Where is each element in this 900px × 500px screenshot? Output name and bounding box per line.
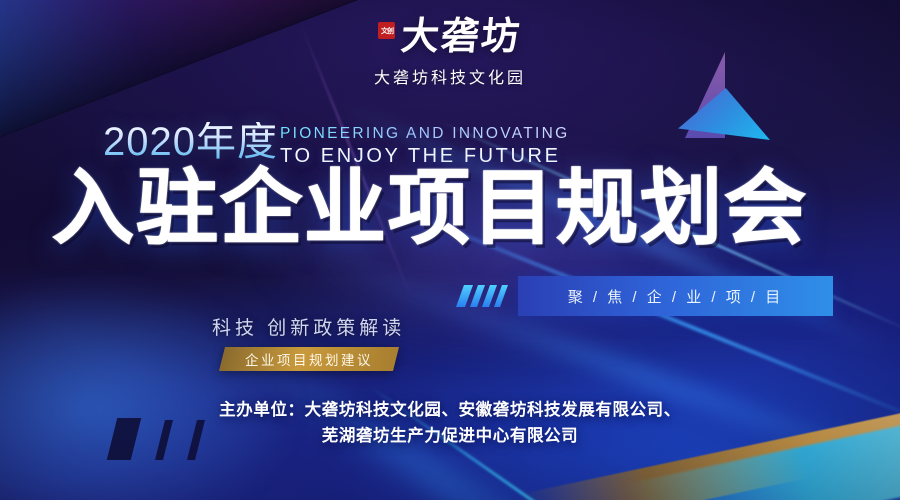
brand-block: 文创 大砻坊 大砻坊科技文化园	[0, 18, 900, 88]
tagline-block: 科技 创新政策解读 企业项目规划建议	[212, 313, 405, 371]
brand-subtitle: 大砻坊科技文化园	[0, 64, 900, 88]
page-title: 入驻企业项目规划会	[52, 168, 808, 250]
banner-content: 文创 大砻坊 大砻坊科技文化园 2020年度 PIONEERING AND IN…	[0, 0, 900, 500]
host-line-1: 主办单位：大砻坊科技文化园、安徽砻坊科技发展有限公司、	[0, 398, 900, 424]
year-label: 2020年度	[103, 122, 278, 162]
tagline-badge-label: 企业项目规划建议	[245, 349, 373, 369]
event-banner: 文创 大砻坊 大砻坊科技文化园 2020年度 PIONEERING AND IN…	[0, 0, 900, 500]
english-line-1: PIONEERING AND INNOVATING	[280, 125, 569, 143]
host-organizations: 主办单位：大砻坊科技文化园、安徽砻坊科技发展有限公司、 芜湖砻坊生产力促进中心有…	[0, 398, 900, 449]
tagline-line-1: 科技 创新政策解读	[212, 313, 405, 340]
focus-bar: 聚 / 焦 / 企 / 业 / 项 / 目	[518, 276, 833, 316]
tagline-badge: 企业项目规划建议	[219, 347, 399, 371]
focus-bar-label: 聚 / 焦 / 企 / 业 / 项 / 目	[568, 286, 784, 307]
brand-logo: 文创 大砻坊	[378, 18, 521, 56]
focus-row: 聚 / 焦 / 企 / 业 / 项 / 目	[460, 276, 833, 316]
red-seal-icon: 文创	[378, 22, 395, 39]
slash-bars-icon	[460, 285, 504, 307]
host-line-2: 芜湖砻坊生产力促进中心有限公司	[0, 424, 900, 450]
brand-name: 大砻坊	[400, 18, 523, 56]
